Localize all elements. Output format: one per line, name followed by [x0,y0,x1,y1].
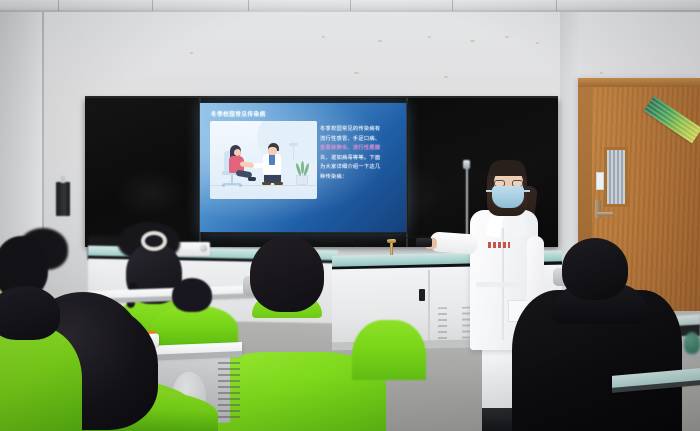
slide-line: 炎、诺如病毒等等。下面 [320,154,402,164]
wall-mark [444,76,448,78]
remote-pointer[interactable] [416,238,432,247]
person-head [562,238,628,300]
ceiling-seam [350,0,351,11]
slide-line: 种传染病： [320,173,402,183]
door-handle[interactable] [597,212,613,216]
wall-mark [322,36,325,38]
bench-cabinet-seam [428,270,430,344]
wall-mark [600,72,603,74]
wall-speaker [56,182,70,216]
ceiling-seam [58,0,59,11]
blackboard-seam [406,98,408,247]
wall-mark [470,40,475,42]
ceiling-seam [556,0,557,11]
projection-screen[interactable]: 冬季校园常见传染病 冬季校园常见的传染病有 流行性感冒、手足口病、 [200,103,406,232]
slide-body-text: 冬季校园常见的传染病有 流行性感冒、手足口病、 支原体肺炎、流行性腮腺 炎、诺如… [320,125,402,183]
device-lens-icon [200,245,207,252]
ceiling-seam [452,0,453,11]
door-window-blinds [607,150,625,204]
wall-mark [428,36,431,38]
wall-mark [354,72,359,74]
student-uniform-partial [352,320,426,380]
desk-vent [218,362,240,420]
wall-mark [190,52,193,54]
metal-stand-head [463,160,470,169]
slide-line: 流行性感冒、手足口病、 [320,135,402,145]
slide-line: 冬季校园常见的传染病有 [320,125,402,135]
slide-illustration [210,121,317,199]
student-head [0,286,60,340]
green-uniform [150,306,238,346]
ceiling-seam [248,0,249,11]
slide-line-highlight: 支原体肺炎、流行性腮腺 [320,144,402,154]
wall-mark [536,42,539,44]
slide-line: 为大家详细介绍一下这几 [320,163,402,173]
door-notice [596,172,604,190]
green-uniform [0,326,82,431]
door-frame-top [578,78,700,87]
coat-badge [488,242,510,248]
wall-mark [505,36,509,38]
slide-title: 冬季校园常见传染病 [211,110,266,118]
classroom-photo: 冬季校园常见传染病 冬季校园常见的传染病有 流行性感冒、手足口病、 [0,0,700,431]
hair-tie [141,231,167,251]
student-head [172,278,212,312]
ceiling-seam [152,0,153,11]
blue-surgical-mask [492,186,524,208]
bench-cabinet-handle[interactable] [419,289,425,301]
green-bottle [684,332,700,354]
speaker-mount [61,176,65,183]
wall-mark [378,40,382,42]
student-head [250,236,324,312]
